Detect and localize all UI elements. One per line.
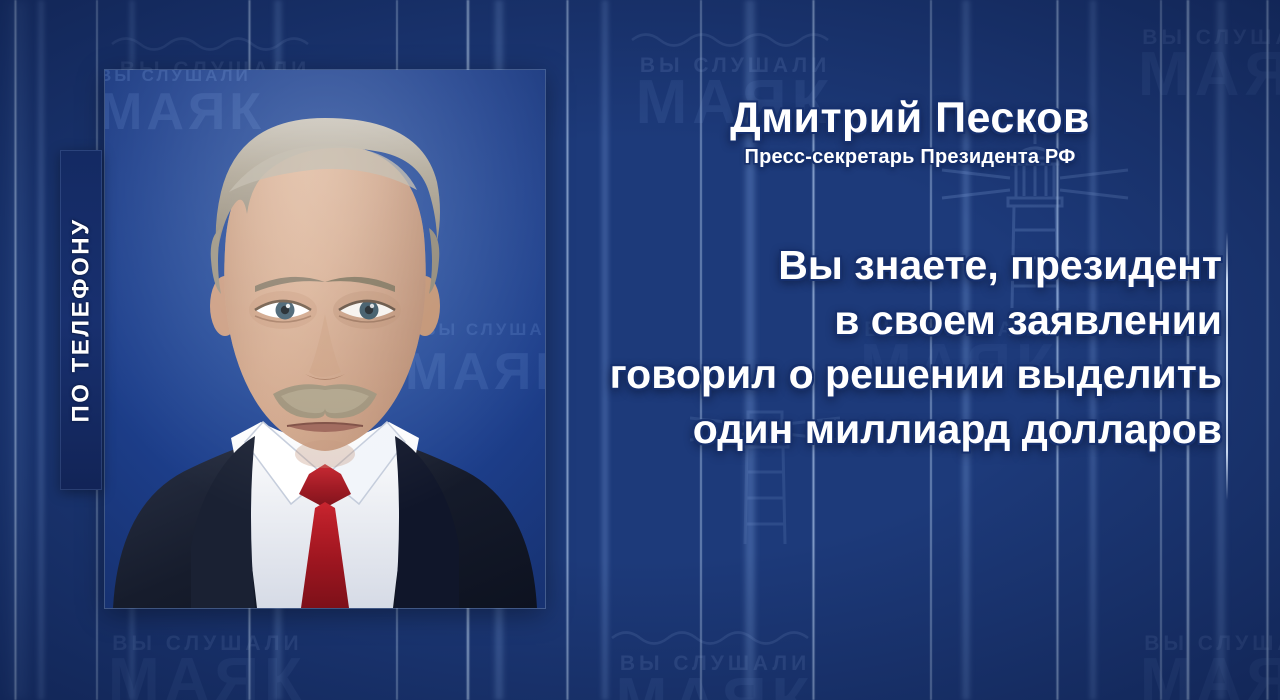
phone-call-label: ПО ТЕЛЕФОНУ <box>67 217 95 422</box>
quote-line: Вы знаете, президент <box>522 238 1222 293</box>
speaker-portrait: ВЫ СЛУШАЛИ МАЯК ВЫ СЛУШАЛИ МАЯК <box>105 70 545 608</box>
quote-line: говорил о решении выделить <box>522 347 1222 402</box>
phone-call-badge: ПО ТЕЛЕФОНУ <box>60 150 102 490</box>
quote-line: один миллиард долларов <box>522 402 1222 457</box>
broadcast-lower-third: ВЫ СЛУШАЛИ МАЯК ВЫ СЛУШАЛИ МАЯК ВЫ СЛУША… <box>0 0 1280 700</box>
quote-line: в своем заявлении <box>522 293 1222 348</box>
speaker-role: Пресс-секретарь Президента РФ <box>560 146 1260 169</box>
speaker-info: Дмитрий Песков Пресс-секретарь Президент… <box>560 96 1260 169</box>
quote-divider <box>1226 232 1228 500</box>
quote-block: Вы знаете, президент в своем заявлении г… <box>522 238 1222 456</box>
speaker-name: Дмитрий Песков <box>560 96 1260 141</box>
